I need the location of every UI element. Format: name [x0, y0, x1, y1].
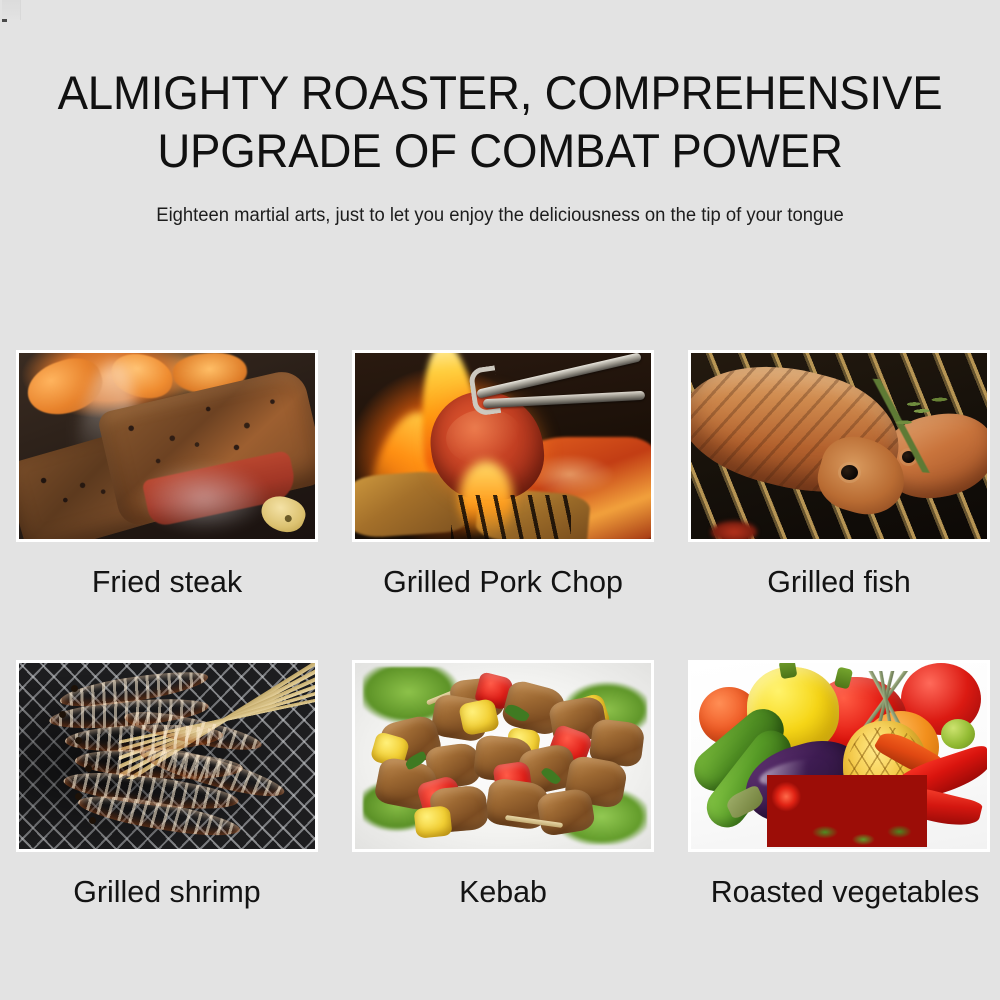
- pineapple-crown: [849, 671, 923, 727]
- gallery-item-label: Fried steak: [19, 542, 315, 600]
- tongs-arm: [483, 391, 645, 408]
- page-title-line-1: ALMIGHTY ROASTER, COMPREHENSIVE: [15, 64, 985, 122]
- photo-frame: [352, 350, 654, 542]
- gallery-item-label: Grilled shrimp: [19, 852, 315, 910]
- shrimp-eye: [71, 685, 78, 692]
- grill-grate: [451, 495, 571, 539]
- page-header: ALMIGHTY ROASTER, COMPREHENSIVE UPGRADE …: [0, 0, 1000, 228]
- page-subtitle: Eighteen martial arts, just to let you e…: [15, 180, 985, 228]
- gallery-item-kebab[interactable]: Kebab: [352, 660, 654, 910]
- gallery-item-grilled-shrimp[interactable]: Grilled shrimp: [16, 660, 318, 910]
- grilled-pork-chop-photo: [355, 353, 651, 539]
- gallery-item-label: Kebab: [355, 852, 651, 910]
- gallery-row: Grilled shrimp: [0, 660, 1000, 970]
- gallery-item-label: Grilled Pork Chop: [355, 542, 651, 600]
- page-title-line-2: UPGRADE OF COMBAT POWER: [15, 122, 985, 180]
- gallery-item-label: Grilled fish: [691, 542, 987, 600]
- roasted-vegetables-photo: [691, 663, 987, 849]
- photo-frame: [352, 660, 654, 852]
- photo-frame: [16, 660, 318, 852]
- grilled-fish-photo: [691, 353, 987, 539]
- parsley-garnish: [801, 821, 921, 849]
- kebab-photo: [355, 663, 651, 849]
- photo-frame: [688, 660, 990, 852]
- shrimp-eye: [89, 817, 96, 824]
- photo-frame: [688, 350, 990, 542]
- shrimp-eye: [85, 765, 92, 772]
- green-fruit: [941, 719, 975, 749]
- gallery-item-label: Roasted vegetables: [697, 852, 993, 910]
- shrimp-eye: [75, 737, 82, 744]
- page-title: ALMIGHTY ROASTER, COMPREHENSIVE UPGRADE …: [15, 0, 985, 180]
- gallery-item-fried-steak[interactable]: Fried steak: [16, 350, 318, 600]
- photo-frame: [16, 350, 318, 542]
- shrimp-eye: [59, 711, 66, 718]
- fried-steak-photo: [19, 353, 315, 539]
- yellow-pepper-chunk: [414, 805, 453, 839]
- ember-glow: [711, 521, 757, 539]
- gallery-item-roasted-vegetables[interactable]: Roasted vegetables: [688, 660, 990, 910]
- shrimp-eye: [75, 793, 82, 800]
- smoke-wisp: [139, 463, 269, 533]
- grilled-shrimp-photo: [19, 663, 315, 849]
- fish-eye: [841, 465, 858, 480]
- gallery-item-grilled-fish[interactable]: Grilled fish: [688, 350, 990, 600]
- gallery-item-grilled-pork-chop[interactable]: Grilled Pork Chop: [352, 350, 654, 600]
- food-gallery: Fried steak Grilled Pork Chop: [0, 350, 1000, 970]
- gallery-row: Fried steak Grilled Pork Chop: [0, 350, 1000, 660]
